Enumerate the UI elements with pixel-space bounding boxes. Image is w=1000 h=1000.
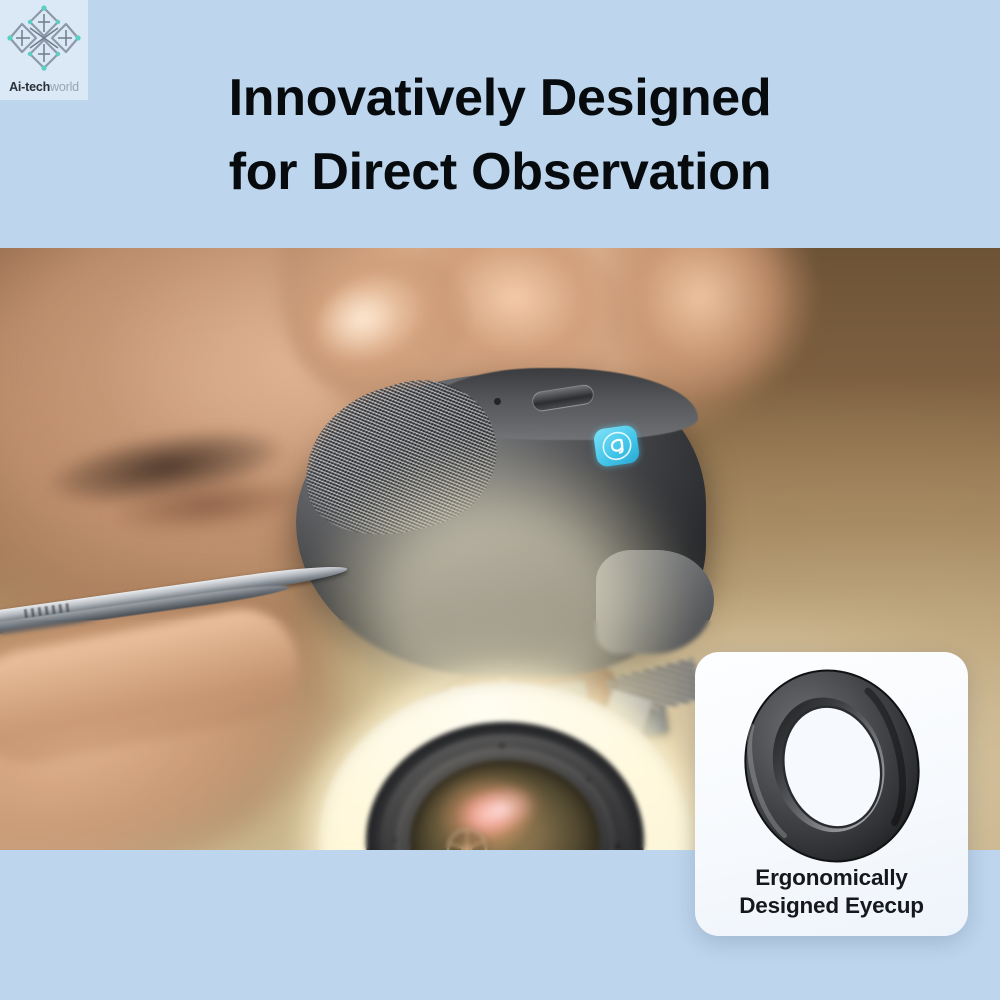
eyecup-card-caption: Ergonomically Designed Eyecup: [695, 864, 968, 920]
watermark-label: Ai-techworld: [0, 80, 88, 94]
lens-bore: [366, 722, 644, 850]
eyecup-ring-icon: [695, 666, 968, 866]
headline-line-1: Innovatively Designed: [229, 69, 772, 127]
lens-barrel: [380, 734, 630, 850]
page-title: Innovatively Designed for Direct Observa…: [0, 62, 1000, 210]
circuit-star-logo-icon: [4, 2, 84, 74]
eyecup-caption-line-2: Designed Eyecup: [695, 892, 968, 920]
watermark-brand-light: world: [50, 80, 79, 94]
watermark: Ai-techworld: [0, 0, 88, 100]
eyecup-feature-card: Ergonomically Designed Eyecup: [695, 652, 968, 936]
eyecup-caption-line-1: Ergonomically: [755, 865, 907, 890]
watermark-brand-bold: Ai-tech: [9, 80, 50, 94]
ai-tech-brand-badge-icon: [593, 424, 641, 468]
headline-line-2: for Direct Observation: [0, 136, 1000, 210]
lens-glass: [410, 760, 600, 850]
gear-wheel-icon: [444, 826, 490, 850]
header-banner: Innovatively Designed for Direct Observa…: [0, 0, 1000, 248]
